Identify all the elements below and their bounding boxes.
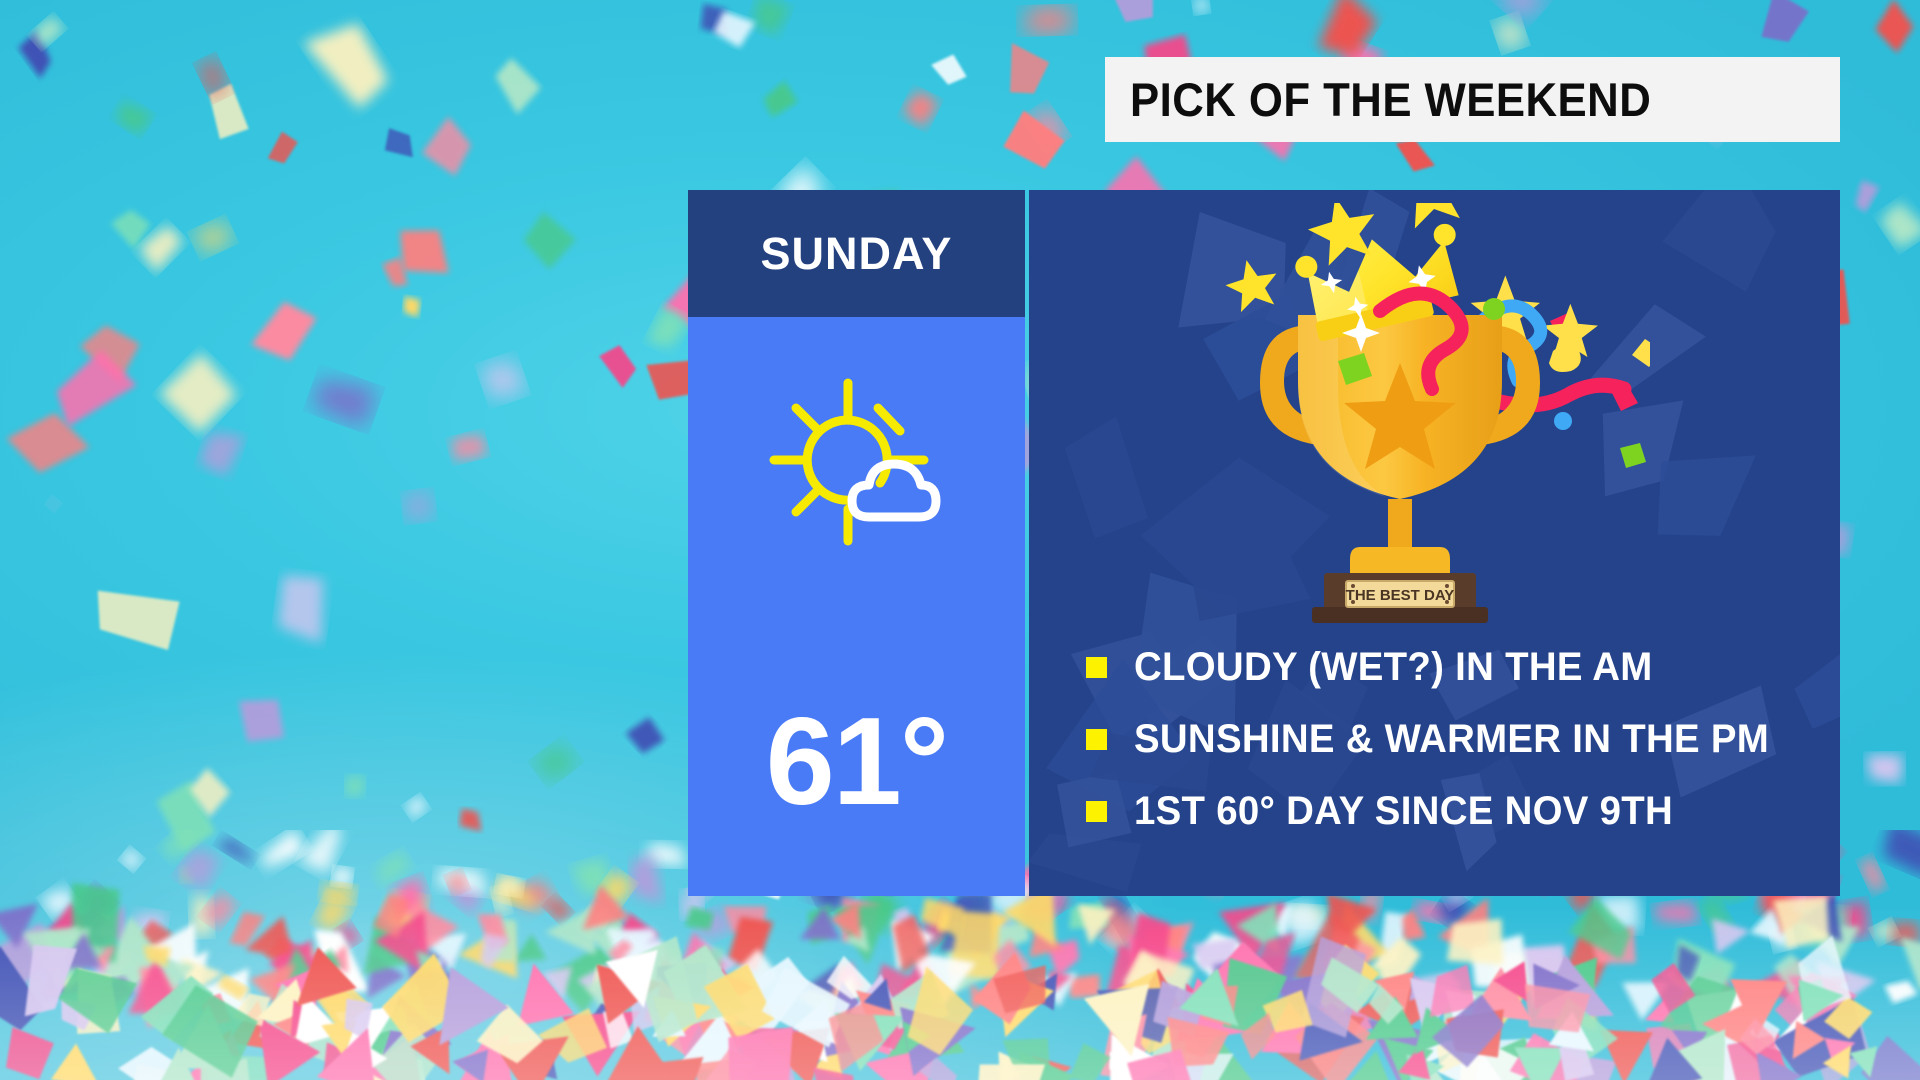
bullet-square-icon	[1086, 801, 1107, 822]
bullet-text: 1ST 60° DAY SINCE NOV 9TH	[1134, 789, 1673, 834]
bullet-text: SUNSHINE & WARMER IN THE PM	[1134, 717, 1769, 762]
bullet-square-icon	[1086, 729, 1107, 750]
partly-cloudy-icon	[752, 377, 962, 547]
day-header: SUNDAY	[688, 190, 1025, 317]
pick-details-panel: THE BEST DAY CLOUDY (WET?) IN THE AM SUN…	[1029, 190, 1840, 896]
trophy-with-crown-graphic: THE BEST DAY	[1220, 203, 1650, 623]
trophy-plaque-text: THE BEST DAY	[1345, 587, 1454, 604]
day-body: 61°	[688, 317, 1025, 896]
bullet-text: CLOUDY (WET?) IN THE AM	[1134, 645, 1653, 690]
trophy-graphic-container: THE BEST DAY	[1029, 198, 1840, 628]
pick-of-the-weekend-banner: PICK OF THE WEEKEND	[1105, 57, 1840, 142]
bullet-square-icon	[1086, 657, 1107, 678]
bullet-item: SUNSHINE & WARMER IN THE PM	[1086, 717, 1820, 762]
bullet-item: CLOUDY (WET?) IN THE AM	[1086, 645, 1820, 690]
banner-title: PICK OF THE WEEKEND	[1130, 72, 1651, 127]
bullet-item: 1ST 60° DAY SINCE NOV 9TH	[1086, 789, 1820, 834]
day-name-label: SUNDAY	[761, 228, 953, 280]
day-forecast-panel: SUNDAY 61°	[688, 190, 1025, 896]
temperature-value: 61°	[688, 700, 1025, 824]
forecast-bullet-list: CLOUDY (WET?) IN THE AM SUNSHINE & WARME…	[1086, 645, 1820, 861]
